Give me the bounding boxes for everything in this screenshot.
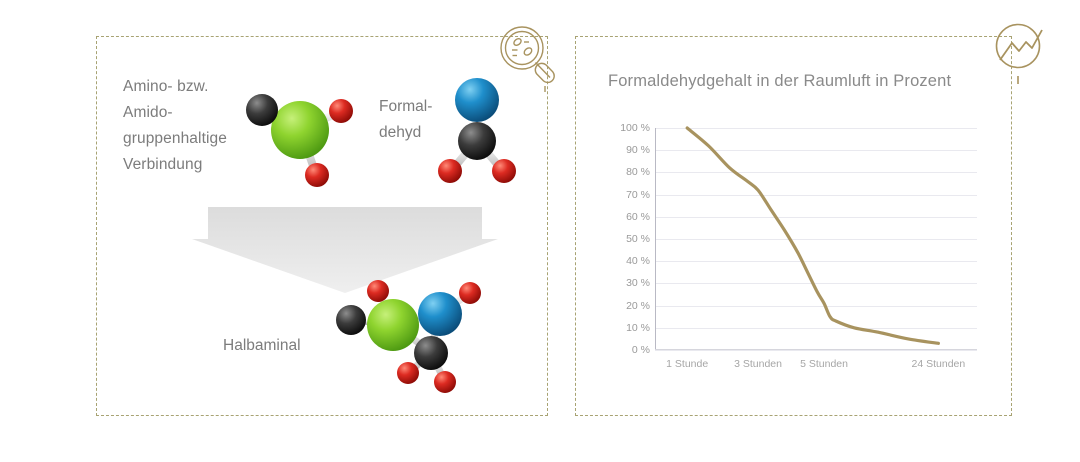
chart-area: 100 %90 %80 %70 %60 %50 %40 %30 %20 %10 … <box>600 122 990 382</box>
x-axis-tick-label: 5 Stunden <box>800 358 848 370</box>
product-label: Halbaminal <box>223 337 301 355</box>
chart-title: Formaldehydgehalt in der Raumluft in Pro… <box>608 72 951 91</box>
y-axis-tick-label: 0 % <box>602 344 650 356</box>
y-axis-tick-label: 70 % <box>602 189 650 201</box>
x-axis-ticks: 1 Stunde3 Stunden5 Stunden24 Stunden <box>655 358 977 378</box>
trend-chart-circle-icon <box>988 18 1054 88</box>
y-axis-tick-label: 40 % <box>602 255 650 267</box>
y-axis-tick-label: 80 % <box>602 166 650 178</box>
x-axis-tick-label: 3 Stunden <box>734 358 782 370</box>
magnifier-molecule-icon <box>497 22 565 94</box>
amine-molecule <box>236 84 366 194</box>
y-axis-tick-label: 50 % <box>602 233 650 245</box>
formaldehyde-label: Formal- dehyd <box>379 94 432 146</box>
plot-area <box>655 128 977 350</box>
y-axis-tick-label: 100 % <box>602 122 650 134</box>
gridline <box>655 350 977 351</box>
y-axis-ticks: 100 %90 %80 %70 %60 %50 %40 %30 %20 %10 … <box>600 128 650 350</box>
formaldehyde-label-line-2: dehyd <box>379 120 432 146</box>
y-axis-tick-label: 10 % <box>602 322 650 334</box>
formaldehyde-label-line-1: Formal- <box>379 94 432 120</box>
data-line <box>655 128 977 350</box>
x-axis-tick-label: 1 Stunde <box>666 358 708 370</box>
y-axis-tick-label: 20 % <box>602 300 650 312</box>
x-axis-tick-label: 24 Stunden <box>912 358 966 370</box>
halbaminal-molecule <box>327 272 502 402</box>
formaldehyde-curve <box>687 128 938 343</box>
y-axis-tick-label: 30 % <box>602 277 650 289</box>
y-axis-tick-label: 60 % <box>602 211 650 223</box>
y-axis-tick-label: 90 % <box>602 144 650 156</box>
